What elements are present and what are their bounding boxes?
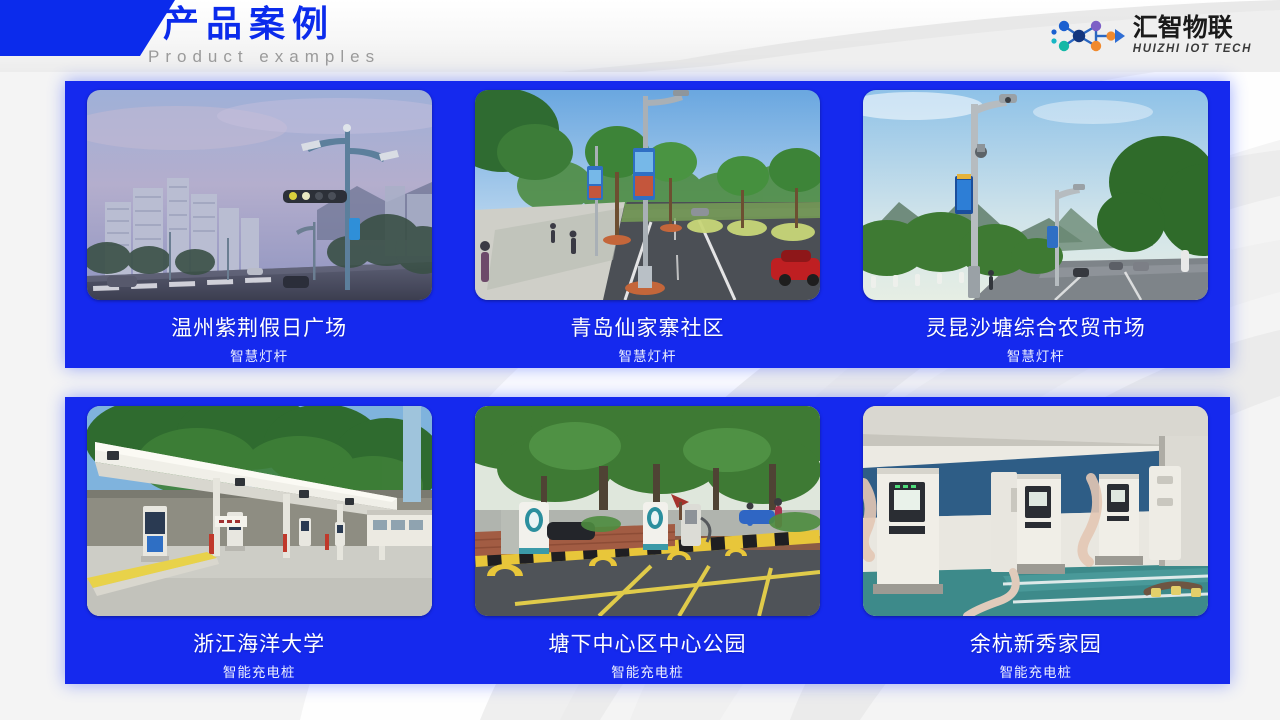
case-subtitle: 智慧灯杆 [230, 348, 288, 365]
case-card[interactable]: 塘下中心区中心公园 智能充电桩 [453, 397, 841, 684]
case-subtitle: 智能充电桩 [1000, 664, 1073, 681]
case-subtitle: 智慧灯杆 [1007, 348, 1065, 365]
case-title: 浙江海洋大学 [193, 632, 325, 658]
slide-header: 产品案例 Product examples [0, 0, 1280, 72]
logo-text-block: 汇智物联 HUIZHI IOT TECH [1133, 16, 1252, 56]
indoor-garage-charging-photo [863, 406, 1208, 616]
case-title: 青岛仙家寨社区 [570, 316, 724, 342]
case-row-smart-charging-pile: 浙江海洋大学 智能充电桩 [65, 397, 1230, 684]
case-subtitle: 智能充电桩 [611, 664, 684, 681]
logo-name-zh: 汇智物联 [1133, 16, 1252, 41]
page-subtitle: Product examples [148, 47, 380, 67]
slide-canvas: 产品案例 Product examples [0, 0, 1280, 720]
case-card[interactable]: 灵昆沙塘综合农贸市场 智慧灯杆 [842, 81, 1230, 368]
case-card[interactable]: 青岛仙家寨社区 智慧灯杆 [453, 81, 841, 368]
outdoor-parking-charging-photo [475, 406, 820, 616]
company-logo[interactable]: 汇智物联 HUIZHI IOT TECH [1049, 15, 1252, 57]
page-title: 产品案例 [163, 2, 335, 46]
case-title: 余杭新秀家园 [970, 632, 1102, 658]
case-subtitle: 智能充电桩 [223, 664, 296, 681]
case-subtitle: 智慧灯杆 [618, 348, 676, 365]
case-card[interactable]: 余杭新秀家园 智能充电桩 [842, 397, 1230, 684]
case-card[interactable]: 浙江海洋大学 智能充电桩 [65, 397, 453, 684]
mountain-road-smart-pole-photo [863, 90, 1208, 300]
canopy-charging-station-photo [87, 406, 432, 616]
case-title: 塘下中心区中心公园 [548, 632, 746, 658]
tree-lined-road-smart-pole-render [475, 90, 820, 300]
case-title: 温州紫荆假日广场 [171, 316, 347, 342]
case-title: 灵昆沙塘综合农贸市场 [926, 316, 1146, 342]
logo-name-en: HUIZHI IOT TECH [1133, 44, 1252, 56]
molecule-network-icon [1049, 15, 1127, 57]
case-row-smart-lamp-pole: 温州紫荆假日广场 智慧灯杆 [65, 81, 1230, 368]
case-card[interactable]: 温州紫荆假日广场 智慧灯杆 [65, 81, 453, 368]
dusk-street-smart-pole-photo [87, 90, 432, 300]
